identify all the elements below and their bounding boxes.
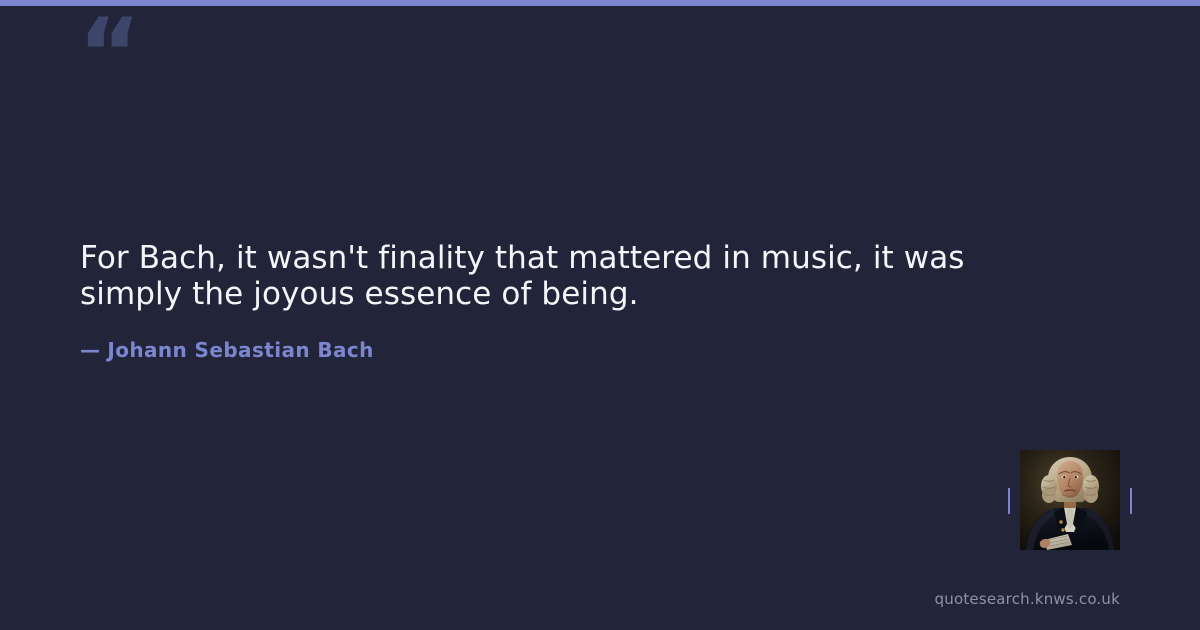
quote-card: “ For Bach, it wasn't finality that matt… <box>0 0 1200 630</box>
attribution: —Johann Sebastian Bach <box>80 338 374 362</box>
attribution-author: Johann Sebastian Bach <box>107 338 373 362</box>
portrait-accent-rule-right <box>1130 488 1132 514</box>
portrait-container <box>1020 450 1120 550</box>
quote-text: For Bach, it wasn't finality that matter… <box>80 240 1040 313</box>
open-quote-icon: “ <box>78 6 139 102</box>
top-accent-bar <box>0 0 1200 6</box>
quote-block: For Bach, it wasn't finality that matter… <box>80 240 1040 313</box>
source-url: quotesearch.knws.co.uk <box>0 590 1120 608</box>
author-portrait <box>1020 450 1120 550</box>
author-portrait-image <box>1020 450 1120 550</box>
attribution-dash: — <box>80 338 100 362</box>
portrait-accent-rule-left <box>1008 488 1010 514</box>
